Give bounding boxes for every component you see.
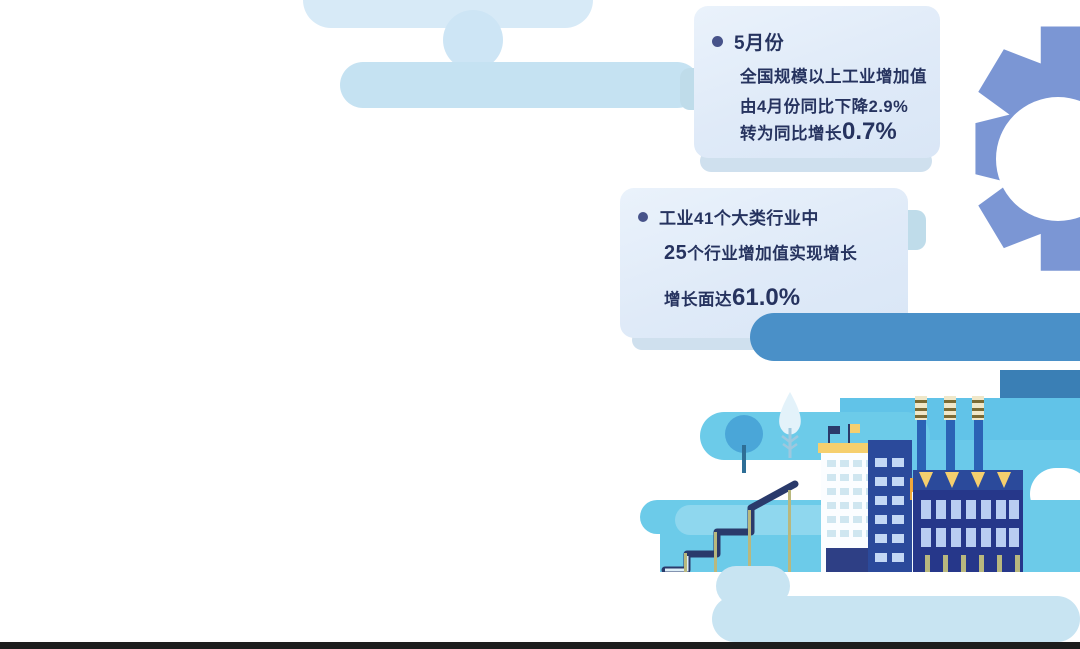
card-1-line-1-text: 5月份	[734, 28, 784, 55]
gear-icon	[930, 0, 1080, 334]
card-2-line-3-prefix: 增长面达	[664, 286, 732, 310]
infographic-canvas: 5月份 全国规模以上工业增加值 由4月份同比下降2.9% 转为同比增长 0.7%	[0, 0, 1080, 649]
card-may-industrial-output[interactable]: 5月份 全国规模以上工业增加值 由4月份同比下降2.9% 转为同比增长 0.7%	[694, 6, 940, 158]
card-2-line-1-text: 工业41个大类行业中	[659, 204, 819, 229]
card-1-line-4-value: 0.7%	[842, 118, 897, 146]
bullet-dot-icon	[638, 212, 648, 222]
card-1-line-4-prefix: 转为同比增长	[740, 120, 842, 144]
card-1-line-4: 转为同比增长 0.7%	[740, 118, 897, 146]
ground-pale-bottom	[712, 596, 1080, 642]
tree-pine-icon	[770, 390, 810, 462]
card-2-line-3: 增长面达 61.0%	[664, 284, 800, 312]
card-1-line-3-text: 由4月份同比下降2.9%	[740, 93, 908, 117]
card-2-line-2: 25 个行业增加值实现增长	[664, 240, 857, 265]
card-1-line-2-text: 全国规模以上工业增加值	[740, 63, 927, 87]
factory-sawtooth-roof	[913, 470, 1023, 492]
card-1-line-3: 由4月份同比下降2.9%	[740, 93, 908, 117]
cloud-pill-wide	[340, 62, 700, 108]
card-2-line-3-value: 61.0%	[732, 284, 800, 312]
band-medium-blue	[750, 313, 1080, 361]
arrow-pole-4	[788, 490, 791, 581]
card-2-line-2-suffix: 个行业增加值实现增长	[687, 240, 857, 264]
card-1-line-2: 全国规模以上工业增加值	[740, 63, 927, 87]
bottom-edge-bar	[0, 642, 1080, 649]
card-1-line-1: 5月份	[712, 28, 784, 55]
ground-white	[600, 572, 1080, 592]
card-2-line-2-value: 25	[664, 242, 687, 265]
card-2-line-1: 工业41个大类行业中	[638, 204, 819, 229]
bullet-dot-icon	[712, 36, 723, 47]
cloud-pill-stem	[443, 10, 503, 70]
band-navy-topright	[1000, 370, 1080, 398]
